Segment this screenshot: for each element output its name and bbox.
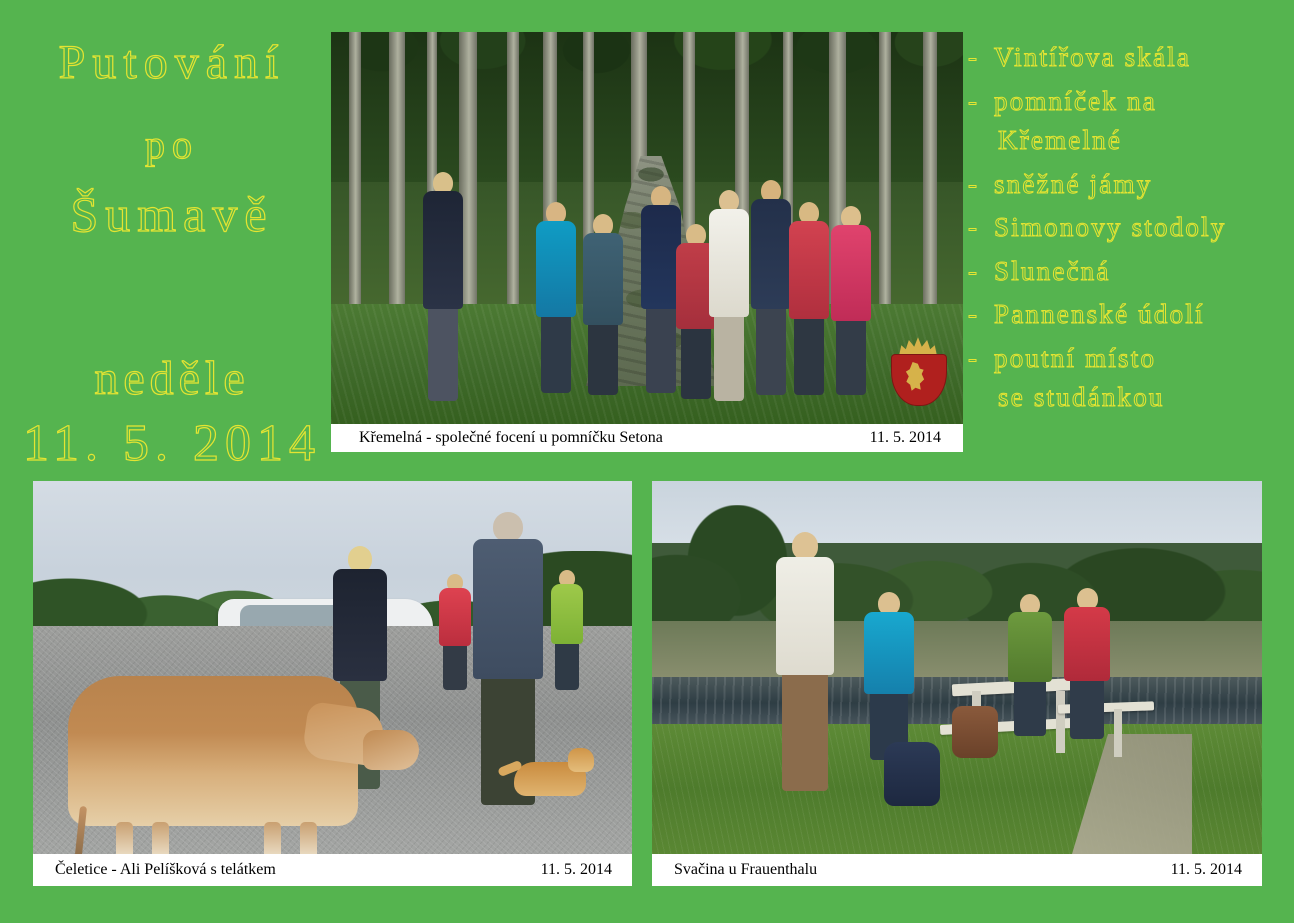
title-line-3: Šumavě: [22, 178, 322, 251]
poster-page: Putování po Šumavě neděle 11. 5. 2014 - …: [0, 0, 1294, 923]
list-item-label: Vintířova skála: [994, 44, 1290, 72]
hiker-figure: [709, 190, 749, 402]
hiker-figure: [751, 180, 791, 402]
photo-card-picnic: Svačina u Frauenthalu 11. 5. 2014: [652, 481, 1262, 886]
hiker-figure: [536, 202, 576, 402]
list-item-label: Simonovy stodoly: [994, 214, 1290, 242]
photo-caption-text: Svačina u Frauenthalu: [674, 861, 817, 879]
title-line-1: Putování: [22, 28, 322, 98]
list-item: - Pannenské údolí: [968, 301, 1290, 329]
photo-caption-text: Křemelná - společné focení u pomníčku Se…: [359, 429, 663, 447]
poster-title: Putování po Šumavě: [22, 28, 322, 250]
poster-date: neděle 11. 5. 2014: [22, 348, 322, 478]
hiker-red-jacket: [439, 574, 471, 694]
list-item-label: Slunečná: [994, 258, 1290, 286]
list-item: - Slunečná: [968, 258, 1290, 286]
dash-bullet-icon: -: [968, 171, 994, 199]
photo-group-cairn: [331, 32, 963, 424]
list-item-label: pomníček na: [994, 88, 1290, 116]
heraldic-emblem-icon: [887, 332, 949, 406]
hiker-figure: [423, 172, 463, 402]
list-item-continuation: se studánkou: [998, 384, 1290, 412]
photo-caption-date: 11. 5. 2014: [1171, 861, 1242, 879]
photo-caption-text: Čeletice - Ali Pelíšková s telátkem: [55, 861, 276, 879]
seated-hiker-centre: [1008, 594, 1052, 744]
dash-bullet-icon: -: [968, 88, 994, 116]
photo-caption-bar: Křemelná - společné focení u pomníčku Se…: [331, 424, 963, 452]
seated-hiker-red-jacket: [1064, 588, 1110, 746]
list-item: - poutní místo: [968, 345, 1290, 373]
photo-caption-date: 11. 5. 2014: [541, 861, 612, 879]
dash-bullet-icon: -: [968, 301, 994, 329]
photo-caption-bar: Čeletice - Ali Pelíšková s telátkem 11. …: [33, 854, 632, 886]
list-item: - Simonovy stodoly: [968, 214, 1290, 242]
hiker-figure: [831, 206, 871, 402]
list-item: - pomníček na: [968, 88, 1290, 116]
date-value: 11. 5. 2014: [22, 410, 322, 478]
photo-picnic: [652, 481, 1262, 854]
list-item-label: sněžné jámy: [994, 171, 1290, 199]
photo-caption-date: 11. 5. 2014: [870, 429, 941, 447]
hiker-figure: [789, 202, 829, 402]
list-item-label: Pannenské údolí: [994, 301, 1290, 329]
photo-cow: [33, 481, 632, 854]
photo-card-cow: Čeletice - Ali Pelíšková s telátkem 11. …: [33, 481, 632, 886]
photo-card-cairn: Křemelná - společné focení u pomníčku Se…: [331, 32, 963, 452]
date-weekday: neděle: [22, 348, 322, 410]
hiker-figure: [641, 186, 681, 402]
backpack: [952, 706, 998, 758]
backpack: [884, 742, 940, 806]
list-item: - sněžné jámy: [968, 171, 1290, 199]
dash-bullet-icon: -: [968, 214, 994, 242]
list-item-continuation: Křemelné: [998, 127, 1290, 155]
dash-bullet-icon: -: [968, 258, 994, 286]
dash-bullet-icon: -: [968, 44, 994, 72]
list-item-label: poutní místo: [994, 345, 1290, 373]
standing-hiker-white-jacket: [776, 532, 834, 800]
itinerary-list: - Vintířova skála - pomníček na Křemelné…: [968, 44, 1290, 428]
dash-bullet-icon: -: [968, 345, 994, 373]
title-line-2: po: [22, 116, 322, 174]
hiker-green-jacket: [551, 570, 583, 696]
hiker-figure: [583, 214, 623, 402]
golden-dog: [514, 762, 586, 796]
photo-caption-bar: Svačina u Frauenthalu 11. 5. 2014: [652, 854, 1262, 886]
list-item: - Vintířova skála: [968, 44, 1290, 72]
